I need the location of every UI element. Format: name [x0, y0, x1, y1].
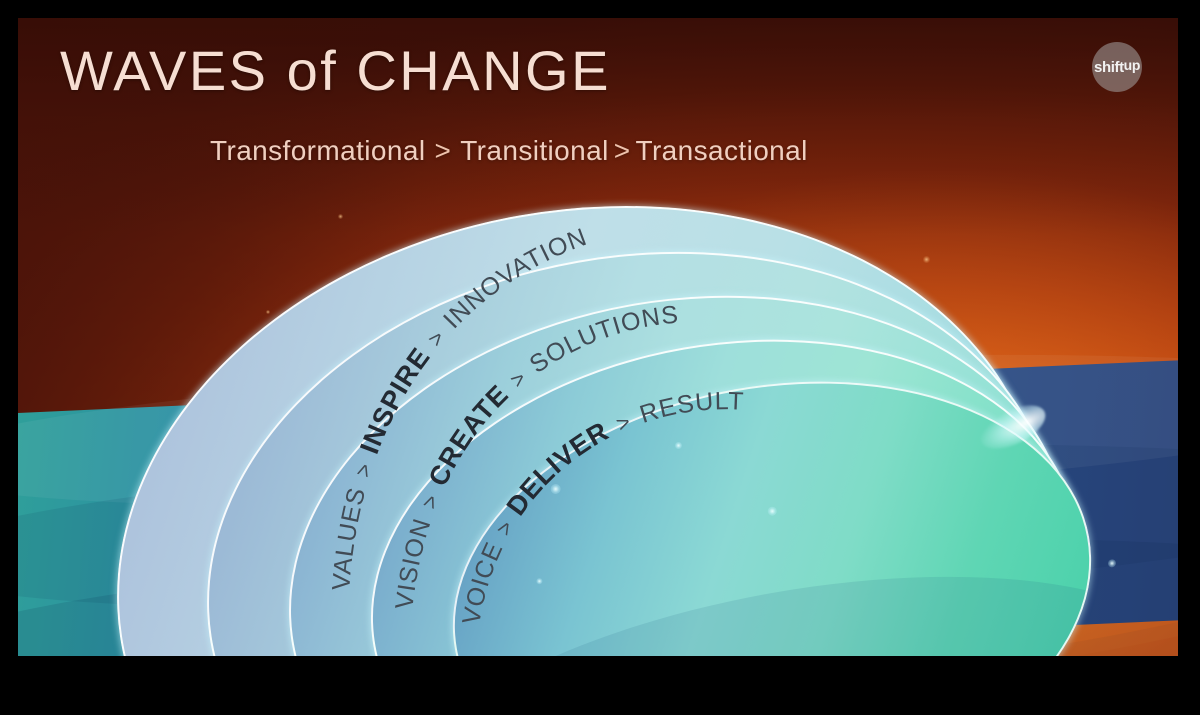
wave-diagram	[18, 18, 1178, 656]
subtitle-item-transformational: Transformational	[210, 135, 425, 166]
shift-up-logo[interactable]: shiftup	[1092, 42, 1142, 92]
logo-text-accent: up	[1124, 58, 1140, 72]
subtitle-item-transitional: Transitional	[460, 135, 609, 166]
slide-canvas: VALUES > INSPIRE > INNOVATION VISION > C…	[18, 18, 1178, 656]
slide-frame: VALUES > INSPIRE > INNOVATION VISION > C…	[0, 0, 1200, 715]
wave-sparkle	[767, 506, 777, 516]
wave-sparkle	[550, 483, 562, 495]
wave-sparkle	[674, 441, 682, 449]
logo-text-main: shift	[1094, 59, 1124, 76]
wave-sparkle	[536, 578, 543, 585]
subtitle-separator-2: >	[609, 135, 636, 166]
subtitle-progression: Transformational>Transitional>Transactio…	[210, 135, 808, 167]
wave-band-shade	[419, 521, 1125, 656]
subtitle-item-transactional: Transactional	[635, 135, 807, 166]
subtitle-separator-1: >	[425, 135, 460, 166]
page-title: WAVES of CHANGE	[60, 38, 611, 103]
logo-text: shiftup	[1094, 60, 1140, 75]
